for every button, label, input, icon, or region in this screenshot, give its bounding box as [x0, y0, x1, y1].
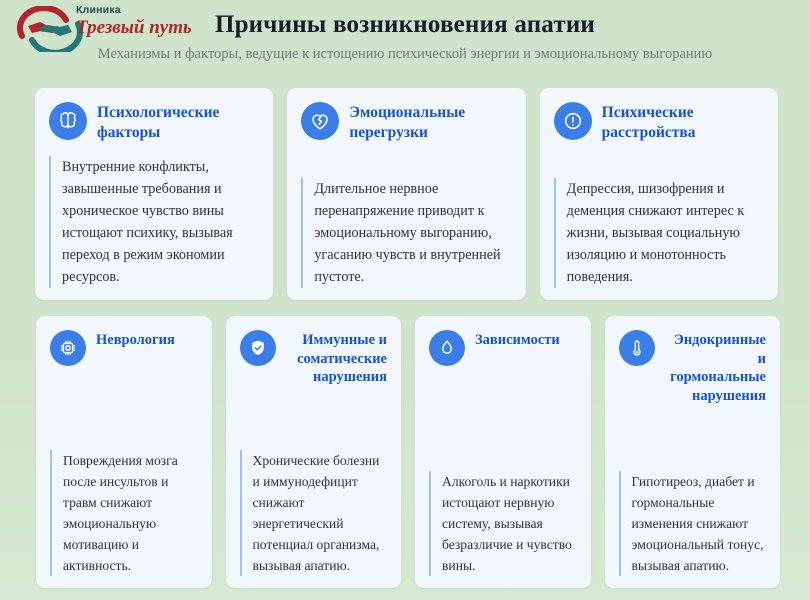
microchip-icon — [50, 330, 86, 366]
card-header: Психологические факторы — [49, 102, 259, 144]
card-psychological-factors[interactable]: Психологические факторы Внутренние конфл… — [35, 88, 273, 300]
card-title: Зависимости — [475, 330, 560, 350]
card-title: Иммунные и соматические нарушения — [286, 330, 388, 387]
card-immune-somatic[interactable]: Иммунные и соматические нарушения Хронич… — [226, 316, 402, 588]
card-body-text: Алкоголь и наркотики истощают нервную си… — [429, 471, 577, 576]
card-header: Иммунные и соматические нарушения — [240, 330, 388, 387]
page-header: Клиника Трезвый путь Причины возникновен… — [0, 0, 810, 72]
exclamation-circle-icon — [554, 102, 592, 140]
card-title: Психологические факторы — [97, 102, 259, 143]
brand-logo: Клиника Трезвый путь — [14, 4, 204, 56]
card-header: Зависимости — [429, 330, 577, 372]
card-header: Эндокринные и гормональные нарушения — [619, 330, 767, 405]
card-body-text: Повреждения мозга после инсультов и трав… — [50, 450, 198, 576]
card-neurology[interactable]: Неврология Повреждения мозга после инсул… — [36, 316, 212, 588]
cards-row-top: Психологические факторы Внутренние конфл… — [0, 72, 810, 300]
brand-kicker: Клиника — [76, 4, 206, 16]
brand-name: Трезвый путь — [76, 17, 206, 39]
card-header: Эмоциональные перегрузки — [301, 102, 511, 144]
card-body-text: Гипотиреоз, диабет и гормональные измене… — [619, 471, 767, 576]
card-title: Неврология — [96, 330, 175, 350]
card-body-text: Хронические болезни и иммунодефицит сниж… — [240, 450, 388, 576]
shield-check-icon — [240, 330, 276, 366]
card-body-text: Внутренние конфликты, завышенные требова… — [49, 156, 259, 288]
card-header: Неврология — [50, 330, 198, 372]
infographic-page: Клиника Трезвый путь Причины возникновен… — [0, 0, 810, 600]
card-body-text: Депрессия, шизофрения и деменция снижают… — [554, 178, 764, 288]
water-drop-icon — [429, 330, 465, 366]
card-emotional-overload[interactable]: Эмоциональные перегрузки Длительное нерв… — [287, 88, 525, 300]
card-endocrine-hormonal[interactable]: Эндокринные и гормональные нарушения Гип… — [605, 316, 781, 588]
card-body-text: Длительное нервное перенапряжение привод… — [301, 178, 511, 288]
card-header: Психические расстройства — [554, 102, 764, 144]
card-mental-disorders[interactable]: Психические расстройства Депрессия, шизо… — [540, 88, 778, 300]
card-title: Эндокринные и гормональные нарушения — [665, 330, 767, 405]
cards-row-bottom: Неврология Повреждения мозга после инсул… — [0, 300, 810, 588]
brain-icon — [49, 102, 87, 140]
card-title: Психические расстройства — [602, 102, 764, 143]
card-title: Эмоциональные перегрузки — [349, 102, 511, 143]
broken-heart-icon — [301, 102, 339, 140]
card-addictions[interactable]: Зависимости Алкоголь и наркотики истощаю… — [415, 316, 591, 588]
thermometer-icon — [619, 330, 655, 366]
